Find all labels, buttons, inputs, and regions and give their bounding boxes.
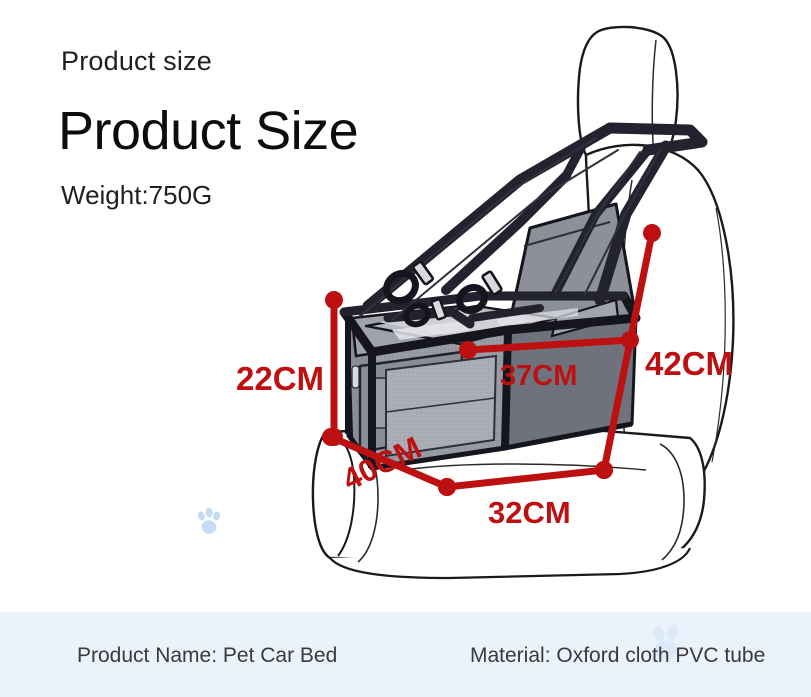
footer-product-name: Product Name: Pet Car Bed xyxy=(77,644,337,668)
dimension-label-22cm: 22CM xyxy=(236,360,324,398)
dimension-label-32cm: 32CM xyxy=(488,495,571,531)
product-size-infographic: Product size Product Size Weight:750G xyxy=(0,0,811,697)
product-illustration xyxy=(0,0,811,612)
footer-material: Material: Oxford cloth PVC tube xyxy=(470,644,765,668)
dimension-label-37cm: 37CM xyxy=(500,360,577,393)
bed-side-tab xyxy=(352,366,359,388)
dimension-label-42cm: 42CM xyxy=(645,345,733,383)
footer-info-bar: Product Name: Pet Car Bed Material: Oxfo… xyxy=(0,612,811,697)
paw-print-icon xyxy=(192,505,226,539)
